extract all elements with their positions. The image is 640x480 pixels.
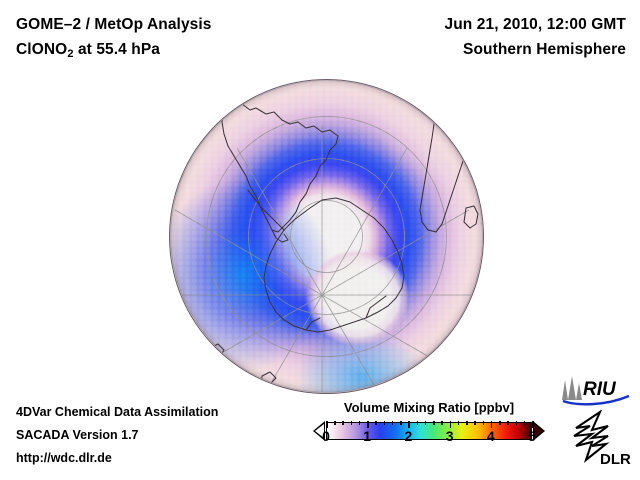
assimilation-label: 4DVar Chemical Data Assimilation [16,401,218,424]
dlr-wordmark: DLR [600,451,631,468]
colorbar-minor-tick [516,421,518,425]
colorbar-minor-tick [483,421,485,425]
colorbar-minor-tick [384,421,386,425]
colorbar-minor-tick [433,421,435,425]
colorbar-tick-label: 0 [322,428,330,444]
species-name: ClONO [16,41,67,58]
species-title: ClONO2 at 55.4 hPa [16,37,212,67]
colorbar-minor-tick [359,421,361,425]
colorbar-minor-tick [417,421,419,425]
riu-wordmark: RIU [583,379,617,400]
colorbar-minor-tick [425,421,427,425]
colorbar: Volume Mixing Ratio [ppbv] 012345 [313,400,545,441]
colorbar-tick-labels: 012345 [326,428,532,446]
colorbar-tick-label: 2 [404,428,412,444]
colorbar-minor-tick [458,421,460,425]
colorbar-ticks [326,421,532,428]
dlr-logo: DLR [562,410,634,468]
colorbar-minor-tick [466,421,468,425]
colorbar-major-tick [367,421,369,428]
colorbar-tick-label: 3 [446,428,454,444]
colorbar-minor-tick [400,421,402,425]
colorbar-minor-tick [499,421,501,425]
colorbar-minor-tick [392,421,394,425]
colorbar-major-tick [532,421,534,428]
colorbar-minor-tick [342,421,344,425]
colorbar-minor-tick [351,421,353,425]
grid-cell-texture [170,80,483,393]
riu-logo: RIU [559,374,631,406]
header-left: GOME–2 / MetOp Analysis ClONO2 at 55.4 h… [16,12,212,67]
colorbar-title: Volume Mixing Ratio [ppbv] [313,400,545,415]
footer-credits: 4DVar Chemical Data Assimilation SACADA … [16,401,218,470]
colorbar-minor-tick [334,421,336,425]
instrument-title: GOME–2 / MetOp Analysis [16,12,212,37]
colorbar-minor-tick [507,421,509,425]
colorbar-major-tick [408,421,410,428]
colorbar-major-tick [326,421,328,428]
colorbar-tick-label: 5 [528,428,536,444]
species-level: at 55.4 hPa [74,41,161,58]
colorbar-major-tick [491,421,493,428]
riu-spires-icon [562,376,582,400]
polar-map [170,80,483,393]
colorbar-tick-label: 4 [487,428,495,444]
hemisphere-label: Southern Hemisphere [445,37,627,62]
globe-disc [170,80,483,393]
colorbar-minor-tick [524,421,526,425]
colorbar-minor-tick [375,421,377,425]
figure-canvas: GOME–2 / MetOp Analysis ClONO2 at 55.4 h… [0,0,640,480]
colorbar-major-tick [450,421,452,428]
colorbar-minor-tick [474,421,476,425]
website-link[interactable]: http://wdc.dlr.de [16,447,218,470]
colorbar-tick-label: 1 [363,428,371,444]
header-right: Jun 21, 2010, 12:00 GMT Southern Hemisph… [445,12,627,62]
colorbar-minor-tick [441,421,443,425]
timestamp-label: Jun 21, 2010, 12:00 GMT [445,12,627,37]
version-label: SACADA Version 1.7 [16,424,218,447]
